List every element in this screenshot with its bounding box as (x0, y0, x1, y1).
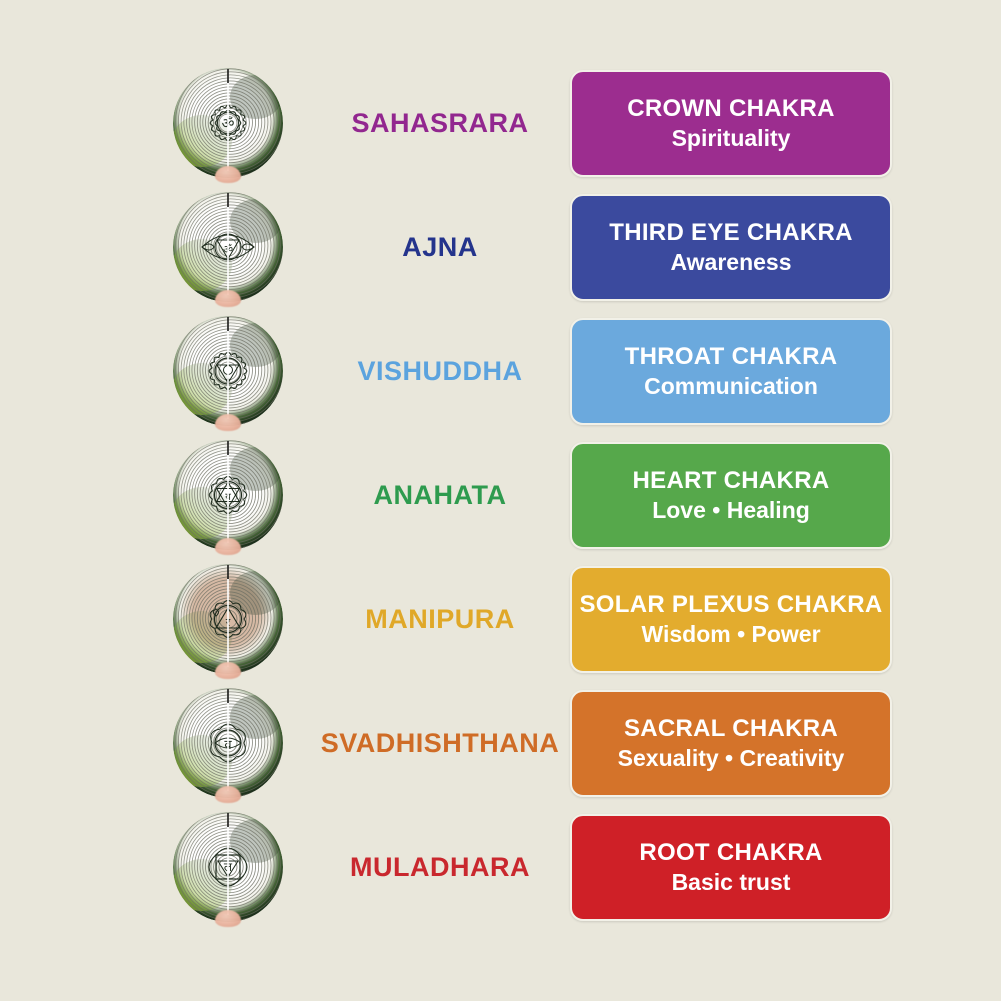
chakra-row: ॐ AJNA THIRD EYE CHAKRA Awareness (0, 185, 1001, 309)
chakra-spinner-sahasrara[interactable]: ॐ (172, 67, 284, 179)
chakra-box-subtitle: Spirituality (672, 125, 791, 151)
chakra-spinner-anahata[interactable]: य (172, 439, 284, 551)
spinner-disc: ल (172, 811, 284, 923)
sanskrit-name-vishuddha: VISHUDDHA (300, 309, 580, 433)
fingertip (215, 414, 241, 431)
fingertip (215, 290, 241, 307)
chakra-row: VISHUDDHA THROAT CHAKRA Communication (0, 309, 1001, 433)
fingertip (215, 166, 241, 183)
chakra-spinner-muladhara[interactable]: ल (172, 811, 284, 923)
chakra-box-subtitle: Love • Healing (652, 497, 810, 523)
chakra-box-subtitle: Communication (644, 373, 818, 399)
chakra-row: व SVADHISHTHANA SACRAL CHAKRA Sexuality … (0, 681, 1001, 805)
chakra-spinner-vishuddha[interactable] (172, 315, 284, 427)
fingertip (215, 662, 241, 679)
chakra-row: ल MULADHARA ROOT CHAKRA Basic trust (0, 805, 1001, 929)
chakra-box-subtitle: Wisdom • Power (641, 621, 820, 647)
spinner-disc (172, 315, 284, 427)
fingertip (215, 538, 241, 555)
sanskrit-name-anahata: ANAHATA (300, 433, 580, 557)
sanskrit-name-ajna: AJNA (300, 185, 580, 309)
chakra-box-title: SACRAL CHAKRA (624, 716, 838, 742)
chakra-box-title: THIRD EYE CHAKRA (609, 220, 852, 246)
chakra-box-subtitle: Sexuality • Creativity (618, 745, 845, 771)
spinner-disc: ॐ (172, 191, 284, 303)
chakra-box-crown-chakra[interactable]: CROWN CHAKRA Spirituality (570, 70, 892, 177)
sanskrit-name-muladhara: MULADHARA (300, 805, 580, 929)
chakra-box-third-eye-chakra[interactable]: THIRD EYE CHAKRA Awareness (570, 194, 892, 301)
chakra-row: र MANIPURA SOLAR PLEXUS CHAKRA Wisdom • … (0, 557, 1001, 681)
chakra-box-title: SOLAR PLEXUS CHAKRA (579, 592, 882, 618)
chakra-row: य ANAHATA HEART CHAKRA Love • Healing (0, 433, 1001, 557)
spinner-disc: व (172, 687, 284, 799)
chakra-box-title: HEART CHAKRA (633, 468, 830, 494)
chakra-box-throat-chakra[interactable]: THROAT CHAKRA Communication (570, 318, 892, 425)
sanskrit-name-manipura: MANIPURA (300, 557, 580, 681)
spinner-disc: र (172, 563, 284, 675)
chakra-spinner-svadhishthana[interactable]: व (172, 687, 284, 799)
chakra-box-solar-plexus-chakra[interactable]: SOLAR PLEXUS CHAKRA Wisdom • Power (570, 566, 892, 673)
fingertip (215, 786, 241, 803)
chakra-box-subtitle: Awareness (670, 249, 791, 275)
chakra-box-subtitle: Basic trust (672, 869, 791, 895)
chakra-spinner-manipura[interactable]: र (172, 563, 284, 675)
chakra-box-title: CROWN CHAKRA (627, 96, 835, 122)
chakra-spinner-ajna[interactable]: ॐ (172, 191, 284, 303)
chakra-box-title: THROAT CHAKRA (625, 344, 838, 370)
chakra-box-title: ROOT CHAKRA (639, 840, 822, 866)
sanskrit-name-sahasrara: SAHASRARA (300, 61, 580, 185)
chakra-chart: ॐ SAHASRARA CROWN CHAKRA Spirituality (0, 0, 1001, 1001)
chakra-box-root-chakra[interactable]: ROOT CHAKRA Basic trust (570, 814, 892, 921)
chakra-box-sacral-chakra[interactable]: SACRAL CHAKRA Sexuality • Creativity (570, 690, 892, 797)
chakra-row: ॐ SAHASRARA CROWN CHAKRA Spirituality (0, 61, 1001, 185)
sanskrit-name-svadhishthana: SVADHISHTHANA (300, 681, 580, 805)
fingertip (215, 910, 241, 927)
spinner-disc: य (172, 439, 284, 551)
chakra-box-heart-chakra[interactable]: HEART CHAKRA Love • Healing (570, 442, 892, 549)
spinner-disc: ॐ (172, 67, 284, 179)
